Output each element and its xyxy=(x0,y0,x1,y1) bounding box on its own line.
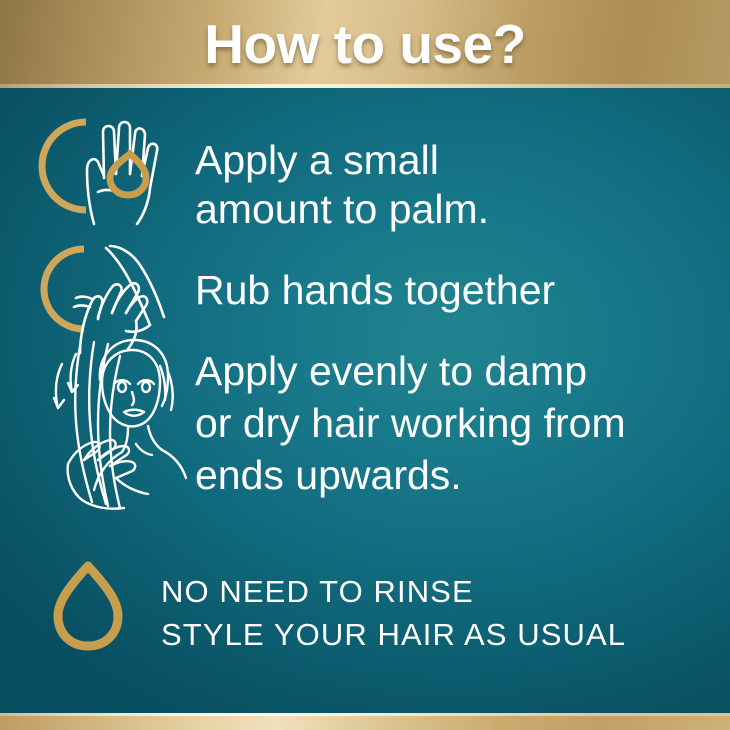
footer-gold-bar xyxy=(0,713,730,730)
gold-crescent-shape xyxy=(42,122,86,210)
woman-applying-to-hair-icon xyxy=(28,336,188,511)
page-title: How to use? xyxy=(0,0,730,88)
step-item: NO NEED TO RINSE STYLE YOUR HAIR AS USUA… xyxy=(52,558,712,656)
oil-drop-shape xyxy=(58,566,118,646)
steps-list: Apply a small amount to palm. xyxy=(0,88,730,713)
open-palm-with-oil-drop-icon xyxy=(40,106,180,226)
up-arrow-shape xyxy=(56,364,62,408)
step-item: Apply a small amount to palm. xyxy=(40,106,700,234)
step-label: Apply a small amount to palm. xyxy=(195,136,489,234)
oil-drop-icon xyxy=(52,558,124,650)
step-item: Apply evenly to damp or dry hair working… xyxy=(28,336,718,511)
step-label: Rub hands together xyxy=(195,266,555,315)
step-label: NO NEED TO RINSE STYLE YOUR HAIR AS USUA… xyxy=(161,570,626,656)
how-to-use-poster: How to use? xyxy=(0,0,730,730)
step-label: Apply evenly to damp or dry hair working… xyxy=(195,345,626,501)
gold-crescent-shape xyxy=(44,249,84,329)
